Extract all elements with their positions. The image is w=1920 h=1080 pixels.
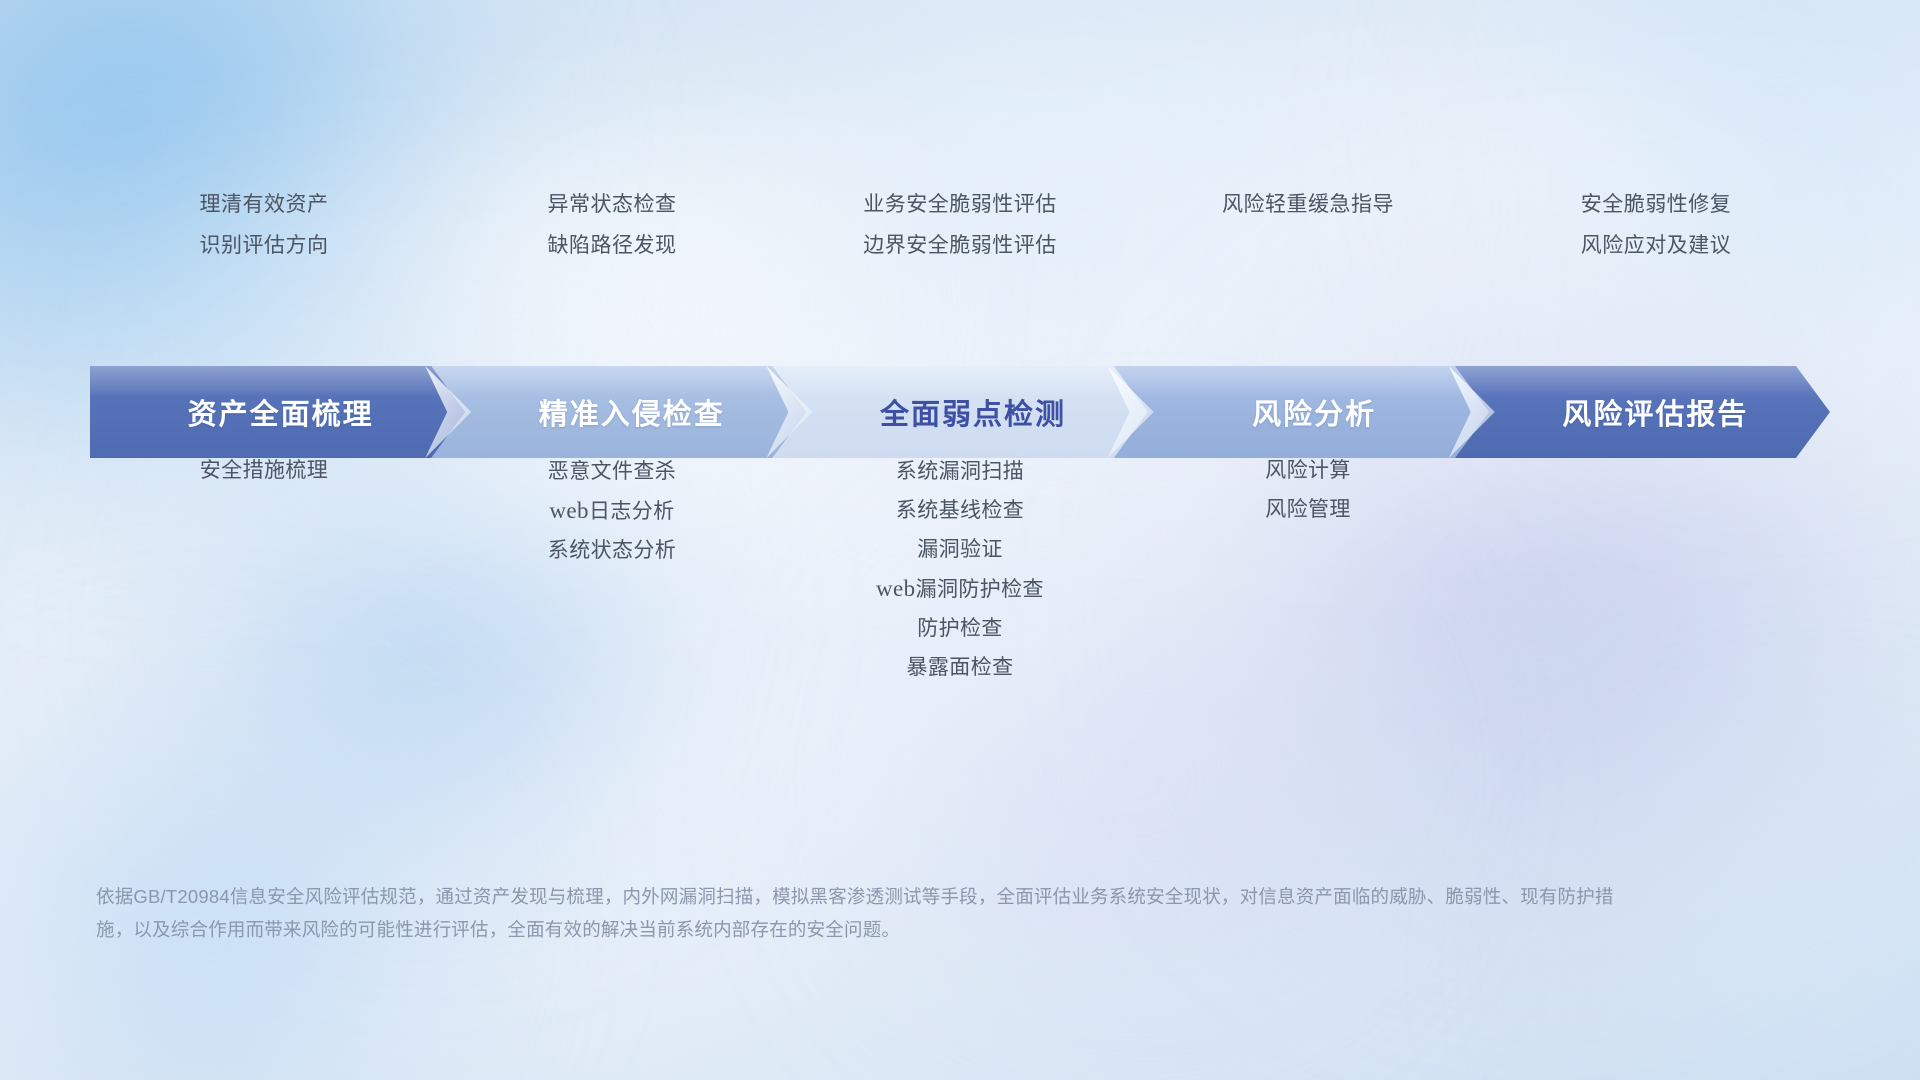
lower-annotation-item: 风险管理	[1134, 490, 1482, 529]
process-arrow-band: 资产全面梳理精准入侵检查全面弱点检测风险分析风险评估报告	[90, 366, 1830, 458]
upper-annotation-group-risk-analysis: 风险轻重缓急指导	[1134, 184, 1482, 266]
upper-annotation-group-asset-inventory: 理清有效资产识别评估方向	[90, 184, 438, 266]
process-step-label: 资产全面梳理	[182, 391, 374, 433]
upper-annotation-group-weakness-detection: 业务安全脆弱性评估边界安全脆弱性评估	[786, 184, 1134, 266]
upper-annotation-item: 识别评估方向	[90, 225, 438, 266]
upper-annotation-item: 异常状态检查	[438, 184, 786, 225]
footer-description: 依据GB/T20984信息安全风险评估规范，通过资产发现与梳理，内外网漏洞扫描，…	[96, 880, 1636, 946]
upper-annotation-item: 风险应对及建议	[1482, 225, 1830, 266]
process-step-asset-inventory[interactable]: 资产全面梳理	[90, 366, 465, 458]
footer-paragraph: 依据GB/T20984信息安全风险评估规范，通过资产发现与梳理，内外网漏洞扫描，…	[96, 880, 1636, 946]
process-step-label: 风险分析	[1226, 391, 1376, 433]
upper-annotation-item: 业务安全脆弱性评估	[786, 184, 1134, 225]
upper-annotation-item: 缺陷路径发现	[438, 225, 786, 266]
process-step-weakness-detection[interactable]: 全面弱点检测	[772, 366, 1147, 458]
upper-annotation-group-intrusion-check: 异常状态检查缺陷路径发现	[438, 184, 786, 266]
process-step-intrusion-check[interactable]: 精准入侵检查	[431, 366, 806, 458]
process-step-label: 精准入侵检查	[513, 391, 725, 433]
upper-annotation-item: 边界安全脆弱性评估	[786, 225, 1134, 266]
process-step-risk-analysis[interactable]: 风险分析	[1114, 366, 1489, 458]
upper-annotation-item: 安全脆弱性修复	[1482, 184, 1830, 225]
process-flow-diagram: 理清有效资产识别评估方向异常状态检查缺陷路径发现业务安全脆弱性评估边界安全脆弱性…	[0, 0, 1920, 1080]
upper-annotation-item: 风险轻重缓急指导	[1134, 184, 1482, 225]
upper-annotation-item: 理清有效资产	[90, 184, 438, 225]
lower-annotation-item: 漏洞验证	[786, 530, 1134, 569]
lower-annotation-item: 防护检查	[786, 609, 1134, 648]
process-step-risk-report[interactable]: 风险评估报告	[1455, 366, 1830, 458]
process-step-label: 风险评估报告	[1536, 391, 1748, 433]
lower-annotation-item: web日志分析	[438, 491, 786, 531]
lower-annotation-item: 暴露面检查	[786, 648, 1134, 687]
lower-annotation-item: 系统基线检查	[786, 491, 1134, 530]
upper-annotation-group-risk-report: 安全脆弱性修复风险应对及建议	[1482, 184, 1830, 266]
process-step-label: 全面弱点检测	[854, 391, 1066, 433]
lower-annotation-item: 系统状态分析	[438, 531, 786, 570]
lower-annotation-item: web漏洞防护检查	[786, 569, 1134, 609]
upper-annotations-row: 理清有效资产识别评估方向异常状态检查缺陷路径发现业务安全脆弱性评估边界安全脆弱性…	[90, 184, 1830, 266]
